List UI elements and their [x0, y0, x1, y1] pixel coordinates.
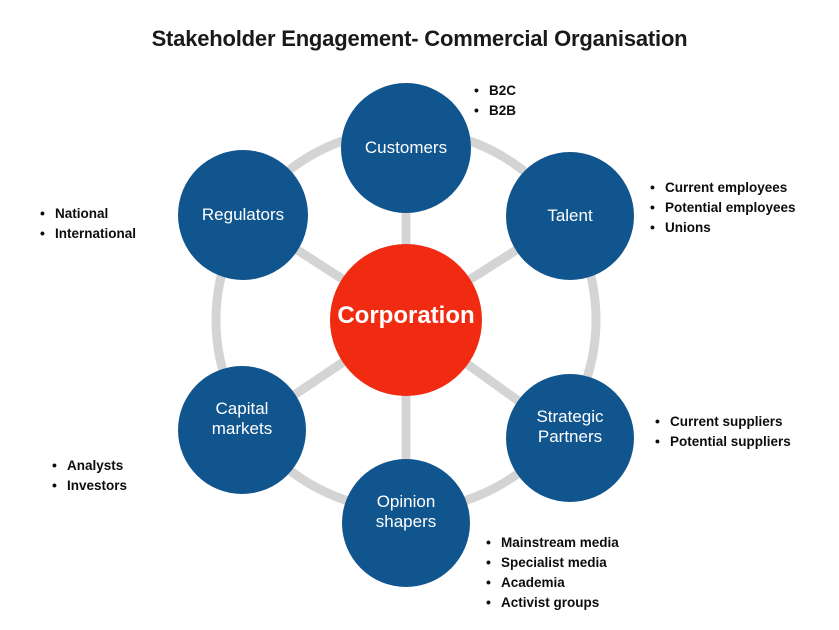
- callout-list-opinion-shapers: Mainstream media Specialist media Academ…: [486, 533, 619, 613]
- hub-circle-corporation[interactable]: [330, 244, 482, 396]
- callout-regulators: National International: [40, 204, 136, 244]
- list-item: Current suppliers: [655, 412, 791, 432]
- list-item: Activist groups: [486, 593, 619, 613]
- node-circle-regulators[interactable]: [178, 150, 308, 280]
- callout-list-regulators: National International: [40, 204, 136, 244]
- callout-list-capital-markets: Analysts Investors: [52, 456, 127, 496]
- callout-capital-markets: Analysts Investors: [52, 456, 127, 496]
- list-item: Unions: [650, 218, 796, 238]
- callout-opinion-shapers: Mainstream media Specialist media Academ…: [486, 533, 619, 613]
- list-item: Investors: [52, 476, 127, 496]
- list-item: Current employees: [650, 178, 796, 198]
- callout-strategic-partners: Current suppliers Potential suppliers: [655, 412, 791, 452]
- callout-customers: B2C B2B: [474, 81, 516, 121]
- list-item: Academia: [486, 573, 619, 593]
- list-item: International: [40, 224, 136, 244]
- list-item: B2C: [474, 81, 516, 101]
- stakeholder-diagram: [0, 0, 839, 630]
- node-circle-talent[interactable]: [506, 152, 634, 280]
- callout-list-strategic-partners: Current suppliers Potential suppliers: [655, 412, 791, 452]
- callout-list-talent: Current employees Potential employees Un…: [650, 178, 796, 238]
- list-item: Specialist media: [486, 553, 619, 573]
- node-circle-strategic-partners[interactable]: [506, 374, 634, 502]
- list-item: B2B: [474, 101, 516, 121]
- list-item: Analysts: [52, 456, 127, 476]
- list-item: Potential suppliers: [655, 432, 791, 452]
- node-circle-capital-markets[interactable]: [178, 366, 306, 494]
- node-circle-customers[interactable]: [341, 83, 471, 213]
- list-item: Potential employees: [650, 198, 796, 218]
- callout-list-customers: B2C B2B: [474, 81, 516, 121]
- callout-talent: Current employees Potential employees Un…: [650, 178, 796, 238]
- list-item: National: [40, 204, 136, 224]
- list-item: Mainstream media: [486, 533, 619, 553]
- node-circle-opinion-shapers[interactable]: [342, 459, 470, 587]
